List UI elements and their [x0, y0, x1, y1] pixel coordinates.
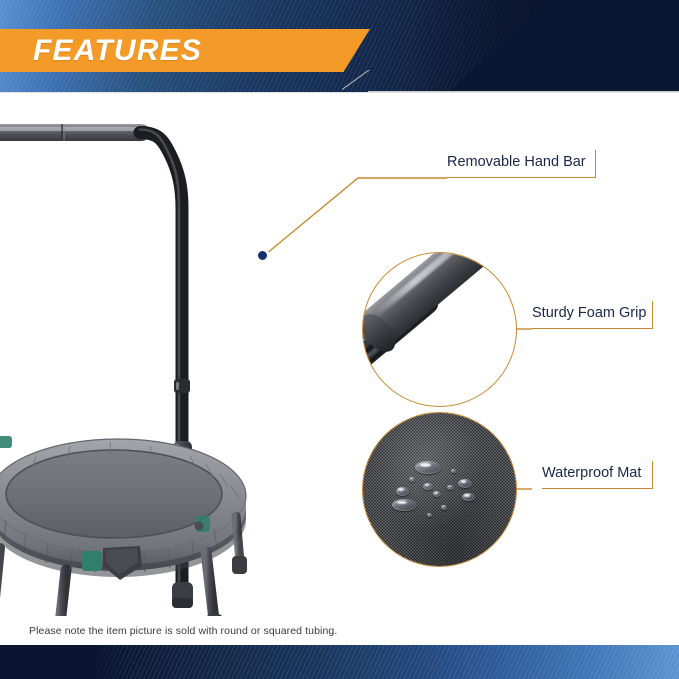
callout-rule-waterproof-mat — [542, 488, 653, 489]
callout-label-removable-hand-bar: Removable Hand Bar — [447, 154, 586, 175]
callout-tick-waterproof-mat — [652, 461, 653, 489]
water-droplet — [392, 499, 417, 511]
footer-banner — [0, 645, 679, 679]
product-image — [0, 96, 340, 616]
water-droplet — [423, 483, 433, 490]
callout-tick-removable-hand-bar — [595, 150, 596, 178]
water-droplet — [447, 485, 454, 490]
inset-waterproof-mat — [362, 412, 517, 567]
mat-shading — [363, 413, 516, 566]
callout-rule-removable-hand-bar — [447, 177, 596, 178]
feature-infographic: FEATURES — [0, 0, 679, 679]
accent-clip-rear — [0, 436, 12, 448]
callout-dot-hand-bar — [256, 249, 269, 262]
accent-clip-left — [82, 551, 102, 571]
header-underline — [0, 92, 679, 93]
water-droplet — [396, 487, 409, 496]
callout-rule-sturdy-foam-grip — [532, 328, 653, 329]
foam-highlight — [371, 252, 510, 319]
water-droplet — [451, 469, 456, 473]
water-droplet — [427, 513, 432, 517]
water-droplet — [462, 493, 475, 501]
footnote-text: Please note the item picture is sold wit… — [29, 625, 337, 637]
page-title: FEATURES — [33, 36, 202, 66]
features-banner: FEATURES — [0, 29, 370, 72]
handle-bar-horizontal — [0, 124, 150, 141]
water-droplet — [433, 491, 441, 497]
foam-grip-artwork — [363, 253, 516, 406]
callout-tick-sturdy-foam-grip — [652, 301, 653, 329]
water-droplet — [409, 477, 415, 482]
inset-foam-grip — [362, 252, 517, 407]
callout-label-waterproof-mat: Waterproof Mat — [542, 465, 641, 486]
water-droplet — [415, 461, 441, 474]
water-droplet — [458, 479, 472, 488]
header-right-hairline — [368, 91, 679, 92]
footer-solid-left — [0, 645, 125, 679]
mat-artwork — [363, 413, 516, 566]
header-diagonal-hairline — [342, 70, 374, 93]
brace-knob — [195, 522, 204, 531]
callout-label-sturdy-foam-grip: Sturdy Foam Grip — [532, 305, 646, 326]
water-droplet — [441, 505, 447, 510]
